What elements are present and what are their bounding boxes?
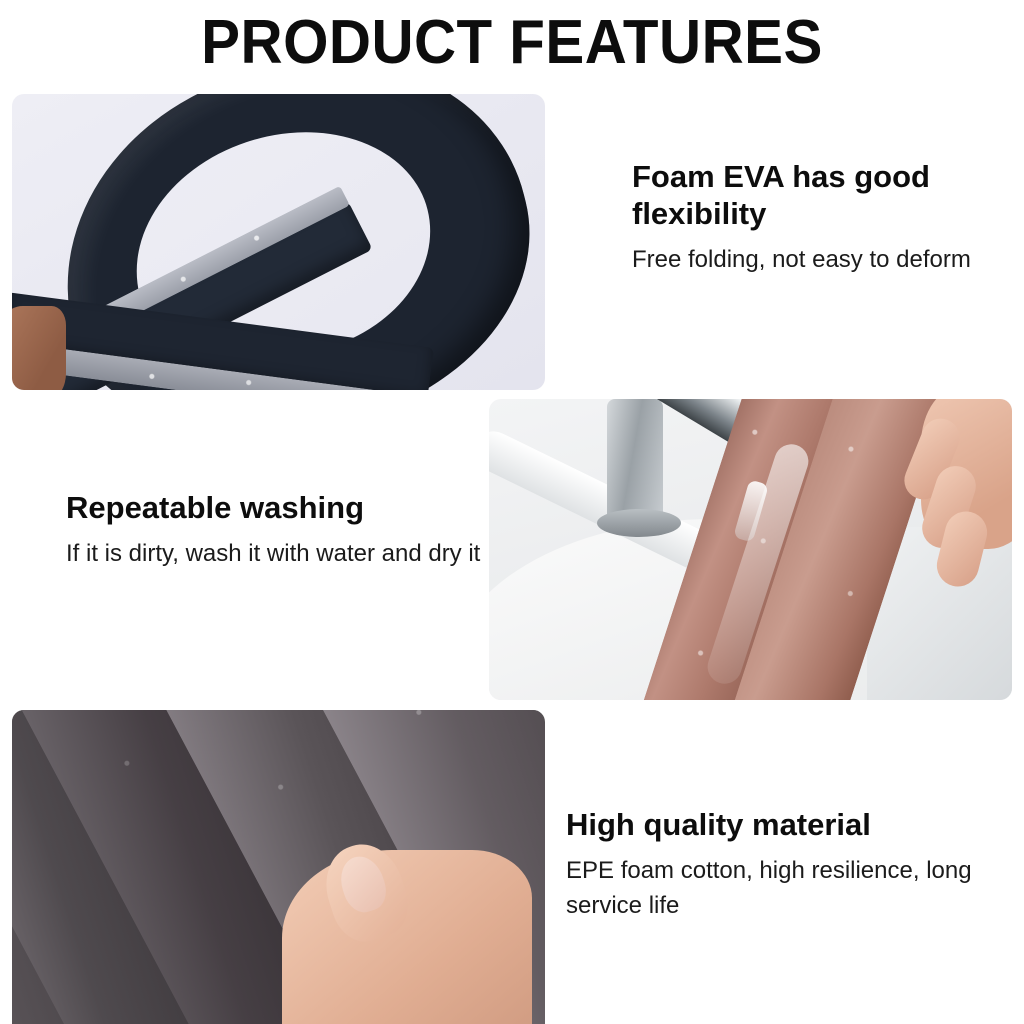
feature-flexibility: Foam EVA has good flexibility Free foldi…: [632, 158, 992, 277]
feature-washing-body: If it is dirty, wash it with water and d…: [66, 536, 486, 571]
hand-holding-foam: [12, 306, 66, 390]
feature-material-heading: High quality material: [566, 806, 996, 843]
feature-washing-heading: Repeatable washing: [66, 489, 486, 526]
feature-material-body: EPE foam cotton, high resilience, long s…: [566, 853, 996, 923]
feature-material: High quality material EPE foam cotton, h…: [566, 806, 996, 923]
bent-foam-strip-photo: [12, 94, 545, 390]
feature-washing: Repeatable washing If it is dirty, wash …: [66, 489, 486, 571]
page-title: PRODUCT FEATURES: [31, 8, 994, 78]
feature-flexibility-heading: Foam EVA has good flexibility: [632, 158, 992, 232]
gray-foam-tubes-photo: [12, 710, 545, 1024]
washing-foam-under-faucet-photo: [489, 399, 1012, 700]
hand-pressing-foam: [282, 850, 532, 1024]
feature-flexibility-body: Free folding, not easy to deform: [632, 242, 992, 277]
faucet-base: [597, 509, 681, 537]
